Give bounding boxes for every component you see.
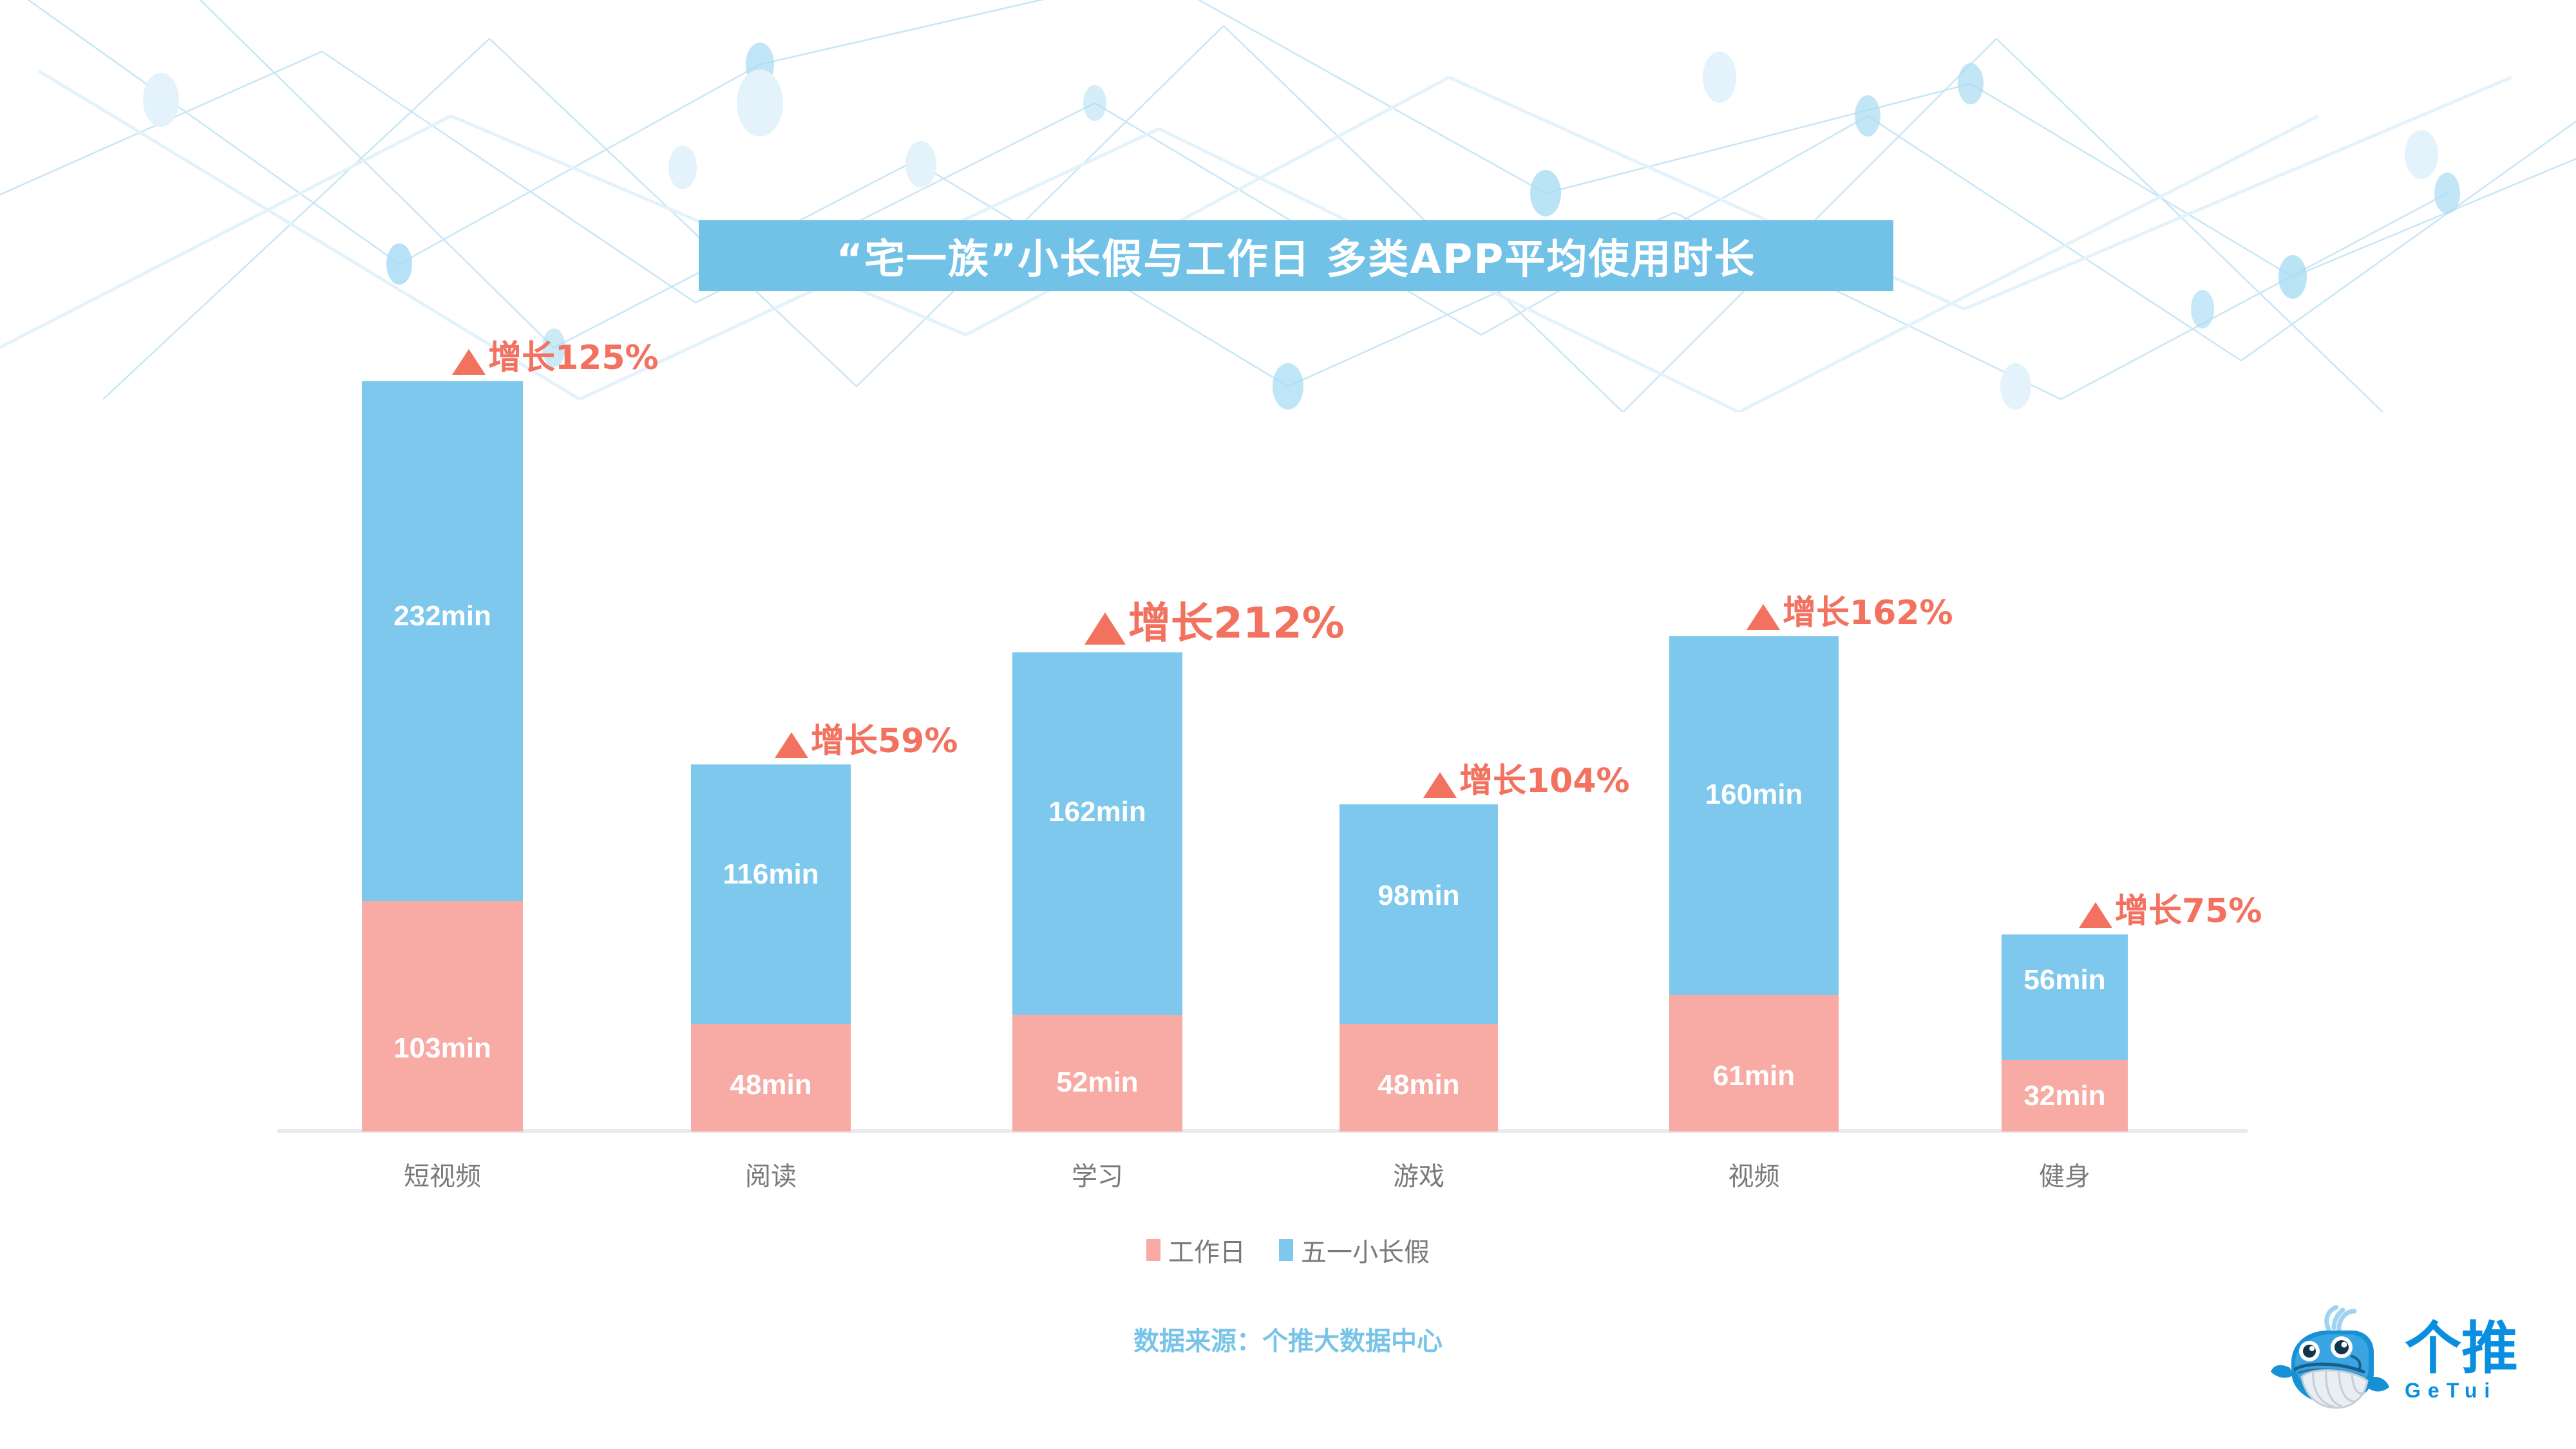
bar-value-weekday-游戏: 48min — [1340, 1071, 1498, 1099]
bar-value-weekday-阅读: 48min — [691, 1071, 851, 1099]
bar-value-weekday-短视频: 103min — [362, 1034, 523, 1063]
bar-segment-holiday-游戏[interactable]: 98min — [1340, 804, 1498, 1024]
bar-segment-holiday-视频[interactable]: 160min — [1669, 636, 1839, 994]
bar-value-weekday-视频: 61min — [1669, 1062, 1839, 1090]
x-axis-label-阅读: 阅读 — [691, 1155, 851, 1193]
chart-title-banner: “宅一族”小长假与工作日 多类APP平均使用时长 — [699, 220, 1893, 291]
chart-legend: 工作日 五一小长假 — [0, 1231, 2576, 1269]
bar-value-holiday-阅读: 116min — [691, 860, 851, 889]
bar-segment-weekday-游戏[interactable]: 48min — [1340, 1024, 1498, 1132]
x-axis-label-短视频: 短视频 — [362, 1155, 523, 1193]
up-triangle-icon — [452, 349, 486, 375]
logo-text-cn: 个推 — [2405, 1321, 2518, 1376]
x-axis-label-游戏: 游戏 — [1340, 1155, 1498, 1193]
bar-value-holiday-健身: 56min — [2002, 966, 2128, 994]
bar-segment-holiday-健身[interactable]: 56min — [2002, 934, 2128, 1060]
bar-segment-holiday-短视频[interactable]: 232min — [362, 381, 523, 901]
bar-segment-holiday-学习[interactable]: 162min — [1012, 652, 1182, 1015]
legend-item-weekday[interactable]: 工作日 — [1146, 1231, 1245, 1269]
bar-segment-weekday-视频[interactable]: 61min — [1669, 995, 1839, 1132]
growth-label-阅读: 增长59% — [811, 724, 958, 758]
growth-label-视频: 增长162% — [1783, 596, 1953, 630]
growth-annotation-阅读: 增长59% — [775, 724, 958, 758]
bar-value-holiday-学习: 162min — [1012, 798, 1182, 826]
up-triangle-icon — [1747, 604, 1780, 630]
bar-stack-学习[interactable]: 162min52min — [1012, 652, 1182, 1132]
bar-value-holiday-短视频: 232min — [362, 602, 523, 630]
getui-logo: 个推 GeTui — [2267, 1294, 2550, 1430]
bar-segment-weekday-阅读[interactable]: 48min — [691, 1024, 851, 1132]
growth-annotation-健身: 增长75% — [2079, 895, 2262, 928]
up-triangle-icon — [1423, 772, 1457, 798]
growth-annotation-视频: 增长162% — [1747, 596, 1953, 630]
up-triangle-icon — [775, 732, 808, 758]
x-axis-label-健身: 健身 — [2002, 1155, 2128, 1193]
bar-stack-健身[interactable]: 56min32min — [2002, 934, 2128, 1132]
growth-label-短视频: 增长125% — [488, 341, 659, 375]
legend-swatch-holiday-icon — [1279, 1239, 1293, 1261]
legend-label-weekday: 工作日 — [1168, 1231, 1245, 1269]
bar-value-weekday-健身: 32min — [2002, 1082, 2128, 1110]
legend-item-holiday[interactable]: 五一小长假 — [1279, 1231, 1430, 1269]
x-axis-line — [277, 1129, 2248, 1133]
bar-segment-weekday-学习[interactable]: 52min — [1012, 1015, 1182, 1132]
bar-value-holiday-游戏: 98min — [1340, 882, 1498, 910]
page-title: “宅一族”小长假与工作日 多类APP平均使用时长 — [837, 227, 1756, 285]
growth-label-学习: 增长212% — [1128, 602, 1345, 645]
bar-stack-游戏[interactable]: 98min48min — [1340, 804, 1498, 1132]
x-axis-label-学习: 学习 — [1012, 1155, 1182, 1193]
bar-stack-阅读[interactable]: 116min48min — [691, 764, 851, 1132]
whale-icon — [2267, 1301, 2396, 1423]
legend-swatch-weekday-icon — [1146, 1239, 1160, 1261]
growth-annotation-学习: 增长212% — [1084, 602, 1345, 645]
bar-stack-视频[interactable]: 160min61min — [1669, 636, 1839, 1132]
bar-value-holiday-视频: 160min — [1669, 781, 1839, 809]
data-source-note: 数据来源：个推大数据中心 — [0, 1320, 2576, 1358]
x-axis-label-视频: 视频 — [1669, 1155, 1839, 1193]
growth-annotation-短视频: 增长125% — [452, 341, 659, 375]
bar-stack-短视频[interactable]: 232min103min — [362, 381, 523, 1132]
legend-label-holiday: 五一小长假 — [1301, 1231, 1430, 1269]
growth-label-游戏: 增长104% — [1459, 764, 1630, 798]
growth-annotation-游戏: 增长104% — [1423, 764, 1630, 798]
bar-segment-holiday-阅读[interactable]: 116min — [691, 764, 851, 1024]
up-triangle-icon — [1084, 612, 1126, 645]
bar-value-weekday-学习: 52min — [1012, 1068, 1182, 1097]
bar-segment-weekday-短视频[interactable]: 103min — [362, 901, 523, 1132]
bar-segment-weekday-健身[interactable]: 32min — [2002, 1060, 2128, 1132]
growth-label-健身: 增长75% — [2115, 895, 2262, 928]
logo-text-en: GeTui — [2405, 1379, 2497, 1403]
up-triangle-icon — [2079, 902, 2112, 928]
data-source-text: 数据来源：个推大数据中心 — [1133, 1327, 1443, 1356]
